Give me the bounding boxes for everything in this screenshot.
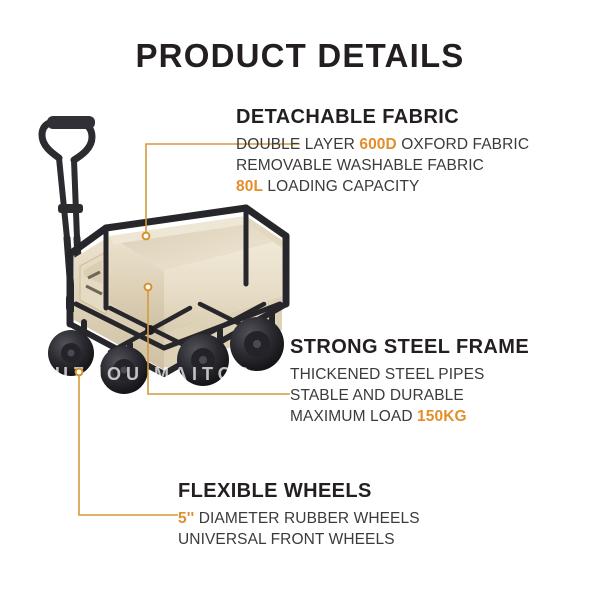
- line-text: DIAMETER RUBBER WHEELS: [194, 510, 419, 527]
- line-text: REMOVABLE WASHABLE FABRIC: [236, 157, 484, 174]
- page-title: PRODUCT DETAILS: [0, 36, 600, 76]
- callout-strong-steel-frame: STRONG STEEL FRAME THICKENED STEEL PIPES…: [290, 334, 529, 427]
- callout-line: MAXIMUM LOAD 150KG: [290, 406, 529, 427]
- callout-line: UNIVERSAL FRONT WHEELS: [178, 529, 420, 550]
- line-highlight: 5'': [178, 510, 194, 527]
- callout-line: 80L LOADING CAPACITY: [236, 176, 529, 197]
- line-text: UNIVERSAL FRONT WHEELS: [178, 531, 395, 548]
- callout-flexible-wheels: FLEXIBLE WHEELS 5'' DIAMETER RUBBER WHEE…: [178, 478, 420, 550]
- line-text: STABLE AND DURABLE: [290, 387, 464, 404]
- callout-line: REMOVABLE WASHABLE FABRIC: [236, 155, 529, 176]
- callout-lines-frame: THICKENED STEEL PIPES STABLE AND DURABLE…: [290, 364, 529, 427]
- line-highlight: 150KG: [417, 408, 467, 425]
- callout-heading: DETACHABLE FABRIC: [236, 104, 529, 130]
- callout-line: 5'' DIAMETER RUBBER WHEELS: [178, 508, 420, 529]
- line-text: MAXIMUM LOAD: [290, 408, 417, 425]
- callout-detachable-fabric: DETACHABLE FABRIC DOUBLE LAYER 600D OXFO…: [236, 104, 529, 197]
- line-highlight: 600D: [359, 136, 396, 153]
- line-text: DOUBLE LAYER: [236, 136, 359, 153]
- line-highlight: 80L: [236, 178, 263, 195]
- callout-line: THICKENED STEEL PIPES: [290, 364, 529, 385]
- line-text: LOADING CAPACITY: [263, 178, 419, 195]
- callout-lines-fabric: DOUBLE LAYER 600D OXFORD FABRIC REMOVABL…: [236, 134, 529, 197]
- callout-heading: FLEXIBLE WHEELS: [178, 478, 420, 504]
- callout-heading: STRONG STEEL FRAME: [290, 334, 529, 360]
- callout-lines-wheels: 5'' DIAMETER RUBBER WHEELS UNIVERSAL FRO…: [178, 508, 420, 550]
- line-text: OXFORD FABRIC: [397, 136, 529, 153]
- callout-line: STABLE AND DURABLE: [290, 385, 529, 406]
- line-text: THICKENED STEEL PIPES: [290, 366, 484, 383]
- callout-line: DOUBLE LAYER 600D OXFORD FABRIC: [236, 134, 529, 155]
- product-details-infographic: PRODUCT DETAILS: [0, 0, 600, 600]
